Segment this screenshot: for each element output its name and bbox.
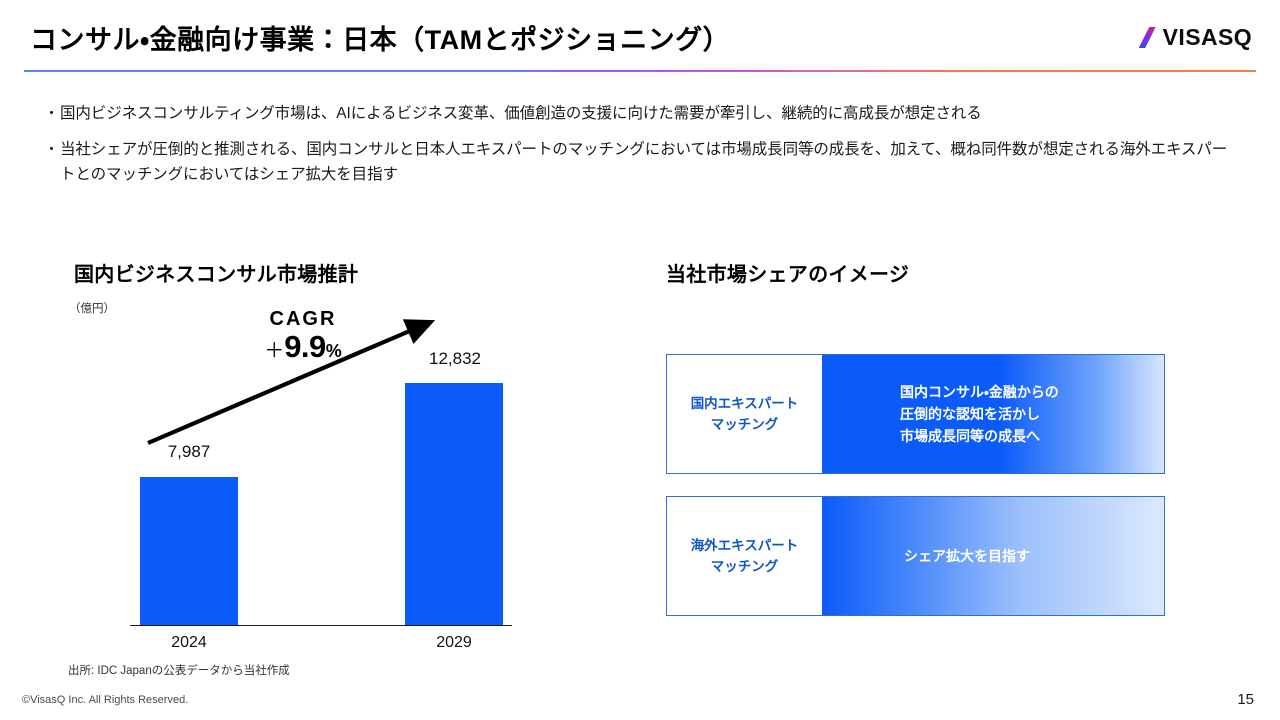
list-item: ・ 当社シェアが圧倒的と推測される、国内コンサルと日本人エキスパートのマッチング…: [44, 137, 1239, 187]
right-section-heading: 当社市場シェアのイメージ: [666, 258, 909, 287]
share-box-overseas: 海外エキスパート マッチング シェア拡大を目指す: [666, 496, 1165, 616]
bar-value-label: 7,987: [129, 442, 249, 462]
slide-header: コンサル・金融向け事業：日本（TAMとポジショニング） VISASQ: [0, 0, 1280, 76]
share-box-label: 海外エキスパート マッチング: [667, 497, 822, 615]
share-label-line2: マッチング: [711, 414, 779, 435]
share-box-label: 国内エキスパート マッチング: [667, 355, 822, 473]
bullet-text: 当社シェアが圧倒的と推測される、国内コンサルと日本人エキスパートのマッチングにお…: [60, 137, 1239, 187]
x-axis-line: [130, 625, 512, 627]
cagr-number: 9.9: [284, 329, 326, 364]
bar-2029: [405, 383, 503, 625]
cagr-label: CAGR: [228, 307, 378, 331]
header-divider: [24, 70, 1256, 72]
x-axis-tick-2024: 2024: [129, 634, 249, 652]
slash-icon: [1139, 27, 1156, 48]
x-axis-tick-2029: 2029: [394, 634, 514, 652]
share-label-line1: 国内エキスパート: [691, 393, 799, 414]
copyright-notice: ©VisasQ Inc. All Rights Reserved.: [22, 694, 188, 706]
left-section-heading: 国内ビジネスコンサル市場推計: [74, 258, 358, 287]
page-title: コンサル・金融向け事業：日本（TAMとポジショニング）: [30, 18, 730, 57]
share-box-body: シェア拡大を目指す: [822, 497, 1164, 615]
cagr-annotation: CAGR ＋9.9%: [228, 307, 378, 367]
cagr-percent: %: [326, 341, 342, 361]
market-size-bar-chart: （億円） CAGR ＋9.9% 7,987 12,832 2024 2029: [60, 295, 540, 660]
bar-2024: [140, 477, 238, 625]
bullet-marker-icon: ・: [44, 101, 60, 126]
bullet-marker-icon: ・: [44, 137, 60, 162]
share-box-domestic: 国内エキスパート マッチング 国内コンサル・金融からの 圧倒的な認知を活かし 市…: [666, 354, 1165, 474]
logo-text: VISASQ: [1163, 24, 1252, 51]
share-label-line1: 海外エキスパート: [691, 535, 799, 556]
cagr-value: ＋9.9%: [228, 331, 378, 367]
cagr-sign: ＋: [264, 340, 284, 362]
share-box-text: シェア拡大を目指す: [904, 545, 1030, 567]
chart-unit-label: （億円）: [69, 300, 115, 316]
list-item: ・ 国内ビジネスコンサルティング市場は、AIによるビジネス変革、価値創造の支援に…: [44, 101, 1239, 126]
visasq-logo: VISASQ: [1139, 24, 1252, 51]
bar-value-label: 12,832: [395, 349, 515, 369]
page-number: 15: [1237, 691, 1254, 708]
share-box-body: 国内コンサル・金融からの 圧倒的な認知を活かし 市場成長同等の成長へ: [822, 355, 1164, 473]
bullet-text: 国内ビジネスコンサルティング市場は、AIによるビジネス変革、価値創造の支援に向け…: [60, 101, 982, 126]
share-box-text: 国内コンサル・金融からの 圧倒的な認知を活かし 市場成長同等の成長へ: [900, 381, 1059, 447]
share-label-line2: マッチング: [711, 556, 779, 577]
source-note: 出所: IDC Japanの公表データから当社作成: [68, 662, 290, 678]
bullet-list: ・ 国内ビジネスコンサルティング市場は、AIによるビジネス変革、価値創造の支援に…: [44, 101, 1239, 198]
